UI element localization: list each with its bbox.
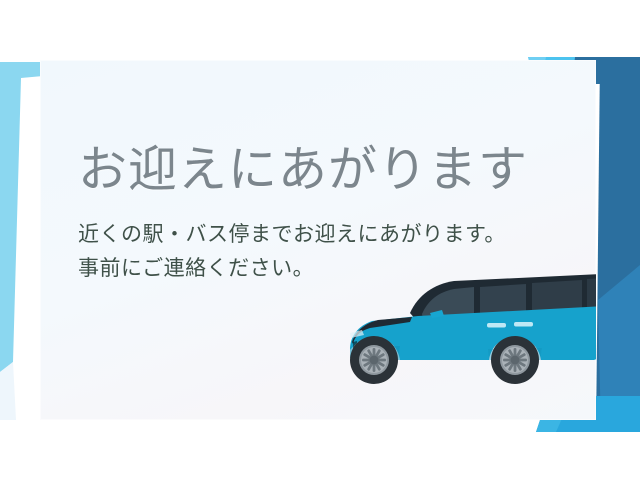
car-door-handle-front — [487, 323, 506, 328]
minivan-svg — [326, 250, 596, 400]
car-door-handle-rear — [514, 322, 533, 327]
left-accent-shape — [0, 62, 43, 372]
car-rear-wheel — [491, 336, 539, 384]
car-front-wheel — [350, 336, 398, 384]
body-text-line-1: 近くの駅・バス停までお迎えにあがります。 — [78, 218, 596, 252]
content-card: お迎えにあがります 近くの駅・バス停までお迎えにあがります。 事前にご連絡くださ… — [40, 60, 596, 420]
page-title: お迎えにあがります — [78, 145, 596, 196]
minivan-illustration — [326, 250, 596, 400]
car-rear-quarter-glass — [587, 278, 596, 311]
promo-banner: お迎えにあがります 近くの駅・バス停までお迎えにあがります。 事前にご連絡くださ… — [0, 0, 640, 480]
left-lower-pale — [0, 362, 16, 420]
